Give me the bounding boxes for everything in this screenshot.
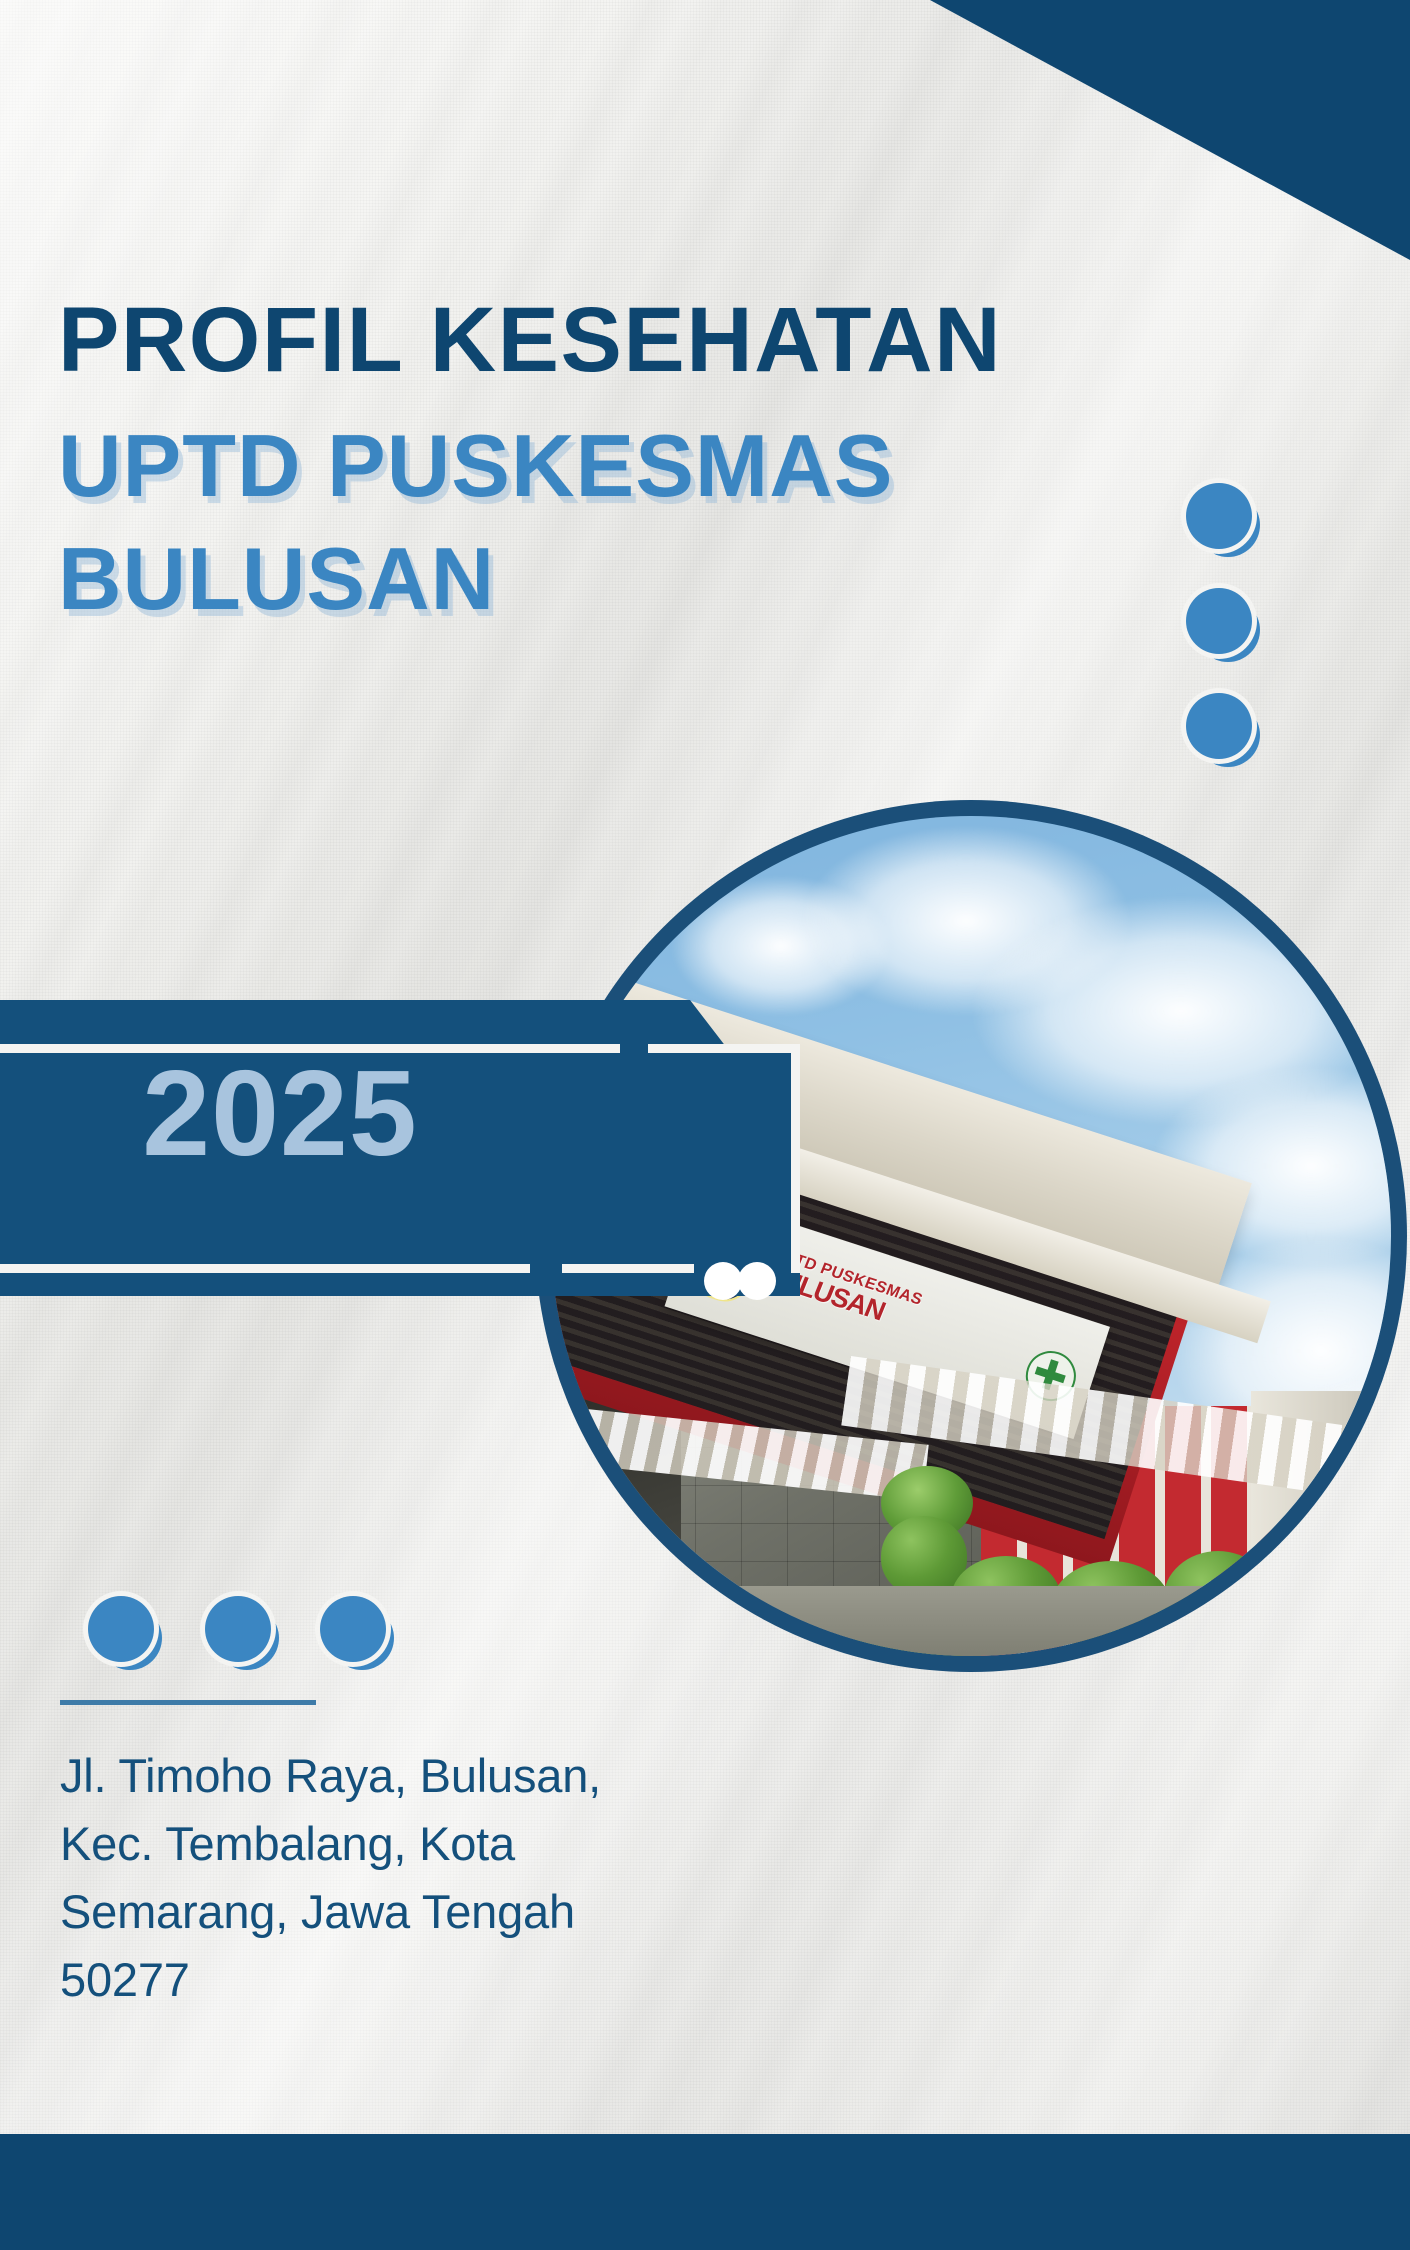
circle-shape [1186,693,1252,759]
circle-shape [1186,588,1252,654]
circle-shape [205,1596,271,1662]
address-line-2: Kec. Tembalang, Kota [60,1810,530,1878]
year-label: 2025 [0,1052,560,1174]
banner-dot-pair-decoration [704,1262,784,1306]
ground-pavement [551,1586,1391,1656]
address-line-4: 50277 [60,1946,530,2014]
stacked-circle-icon [205,1596,281,1672]
banner-bracket-bottom-right [562,1264,694,1273]
banner-bracket-bottom-left [0,1264,530,1273]
page-title-line-3: BULUSAN [58,523,1148,636]
stacked-circle-icon [1186,483,1260,557]
cover-headline-block: PROFIL KESEHATAN UPTD PUSKESMAS BULUSAN [58,294,1148,635]
address-divider-rule [60,1700,316,1705]
banner-bracket-right [791,1044,800,1273]
stacked-circle-icon [1186,693,1260,767]
address-line-3: Semarang, Jawa Tengah [60,1878,530,1946]
circle-shape [88,1596,154,1662]
banner-dot [704,1262,742,1300]
stacked-circle-icon [88,1596,164,1672]
banner-bracket-top-right [648,1044,800,1053]
stacked-circle-icon [1186,588,1260,662]
address-line-1: Jl. Timoho Raya, Bulusan, [60,1742,530,1810]
circle-shape [1186,483,1252,549]
address-dots-decoration [88,1596,408,1676]
circle-shape [320,1596,386,1662]
stacked-circle-icon [320,1596,396,1672]
banner-dot [738,1262,776,1300]
vertical-dot-stack-decoration [1186,483,1286,813]
address-block: Jl. Timoho Raya, Bulusan, Kec. Tembalang… [60,1742,530,2015]
report-cover-page: PROFIL KESEHATAN UPTD PUSKESMAS BULUSAN [0,0,1410,2250]
page-title-line-2: UPTD PUSKESMAS [58,410,1148,523]
page-title-line-1: PROFIL KESEHATAN [58,294,1148,386]
bottom-navy-bar [0,2134,1410,2250]
